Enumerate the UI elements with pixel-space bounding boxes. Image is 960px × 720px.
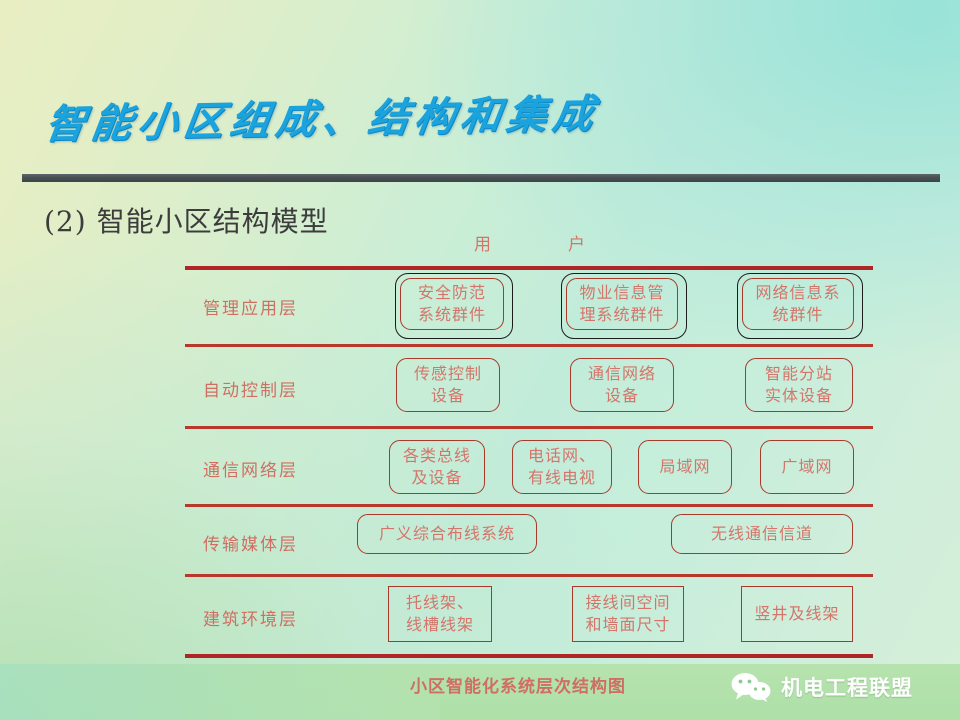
diagram-node[interactable]: 托线架、线槽线架 [388, 586, 492, 642]
page-title: 智能小区组成、结构和集成 [42, 81, 604, 150]
user-label-right: 户 [568, 230, 586, 255]
layer-divider-line [185, 426, 873, 429]
layer-row: 传输媒体层广义综合布线系统无线通信信道 [185, 508, 873, 574]
user-label-left: 用 [474, 230, 492, 255]
diagram-node[interactable]: 网络信息系统群件 [742, 278, 854, 330]
layer-divider-line [185, 654, 873, 658]
diagram-node-line: 统群件 [772, 304, 823, 326]
diagram-node-line: 系统群件 [418, 304, 486, 326]
layer-divider-line [185, 344, 873, 347]
bottom-color-band-left [0, 664, 440, 720]
layer-name-label: 传输媒体层 [203, 530, 298, 555]
diagram-node-line: 电话网、 [528, 445, 596, 467]
diagram-node[interactable]: 安全防范系统群件 [400, 278, 504, 330]
diagram-node-line: 和墙面尺寸 [585, 614, 670, 636]
diagram-node-line: 有线电视 [528, 467, 596, 489]
section-subtitle: (2) 智能小区结构模型 [44, 200, 329, 240]
title-underline-bar [22, 174, 940, 182]
diagram-node[interactable]: 局域网 [638, 440, 732, 494]
watermark: 机电工程联盟 [730, 672, 913, 702]
diagram-node[interactable]: 智能分站实体设备 [745, 358, 853, 412]
diagram-node-line: 网络信息系 [755, 282, 840, 304]
diagram-node-line: 广域网 [781, 456, 832, 478]
layer-divider-line [185, 504, 873, 507]
wechat-icon [730, 672, 772, 702]
layer-row: 通信网络层各类总线及设备电话网、有线电视局域网广域网 [185, 430, 873, 504]
diagram-node-line: 设备 [431, 385, 465, 407]
diagram-node-line: 广义综合布线系统 [379, 523, 515, 545]
diagram-node[interactable]: 无线通信信道 [671, 514, 853, 554]
diagram-node-line: 无线通信信道 [711, 523, 813, 545]
diagram-node-line: 托线架、 [406, 592, 474, 614]
diagram-node[interactable]: 接线间空间和墙面尺寸 [572, 586, 684, 642]
diagram-node[interactable]: 广域网 [760, 440, 854, 494]
diagram-node-line: 及设备 [411, 467, 462, 489]
diagram-node-line: 传感控制 [414, 363, 482, 385]
diagram-node-line: 实体设备 [765, 385, 833, 407]
layer-name-label: 建筑环境层 [203, 605, 298, 630]
layer-row: 建筑环境层托线架、线槽线架接线间空间和墙面尺寸竖井及线架 [185, 578, 873, 654]
layer-name-label: 管理应用层 [203, 294, 298, 319]
diagram-node[interactable]: 通信网络设备 [570, 358, 674, 412]
diagram-node-line: 安全防范 [418, 282, 486, 304]
diagram-node-line: 接线间空间 [585, 592, 670, 614]
layer-row: 自动控制层传感控制设备通信网络设备智能分站实体设备 [185, 348, 873, 426]
layered-architecture-diagram: 管理应用层安全防范系统群件物业信息管理系统群件网络信息系统群件自动控制层传感控制… [185, 266, 873, 658]
layer-divider-line [185, 574, 873, 577]
diagram-node[interactable]: 各类总线及设备 [389, 440, 485, 494]
diagram-node[interactable]: 电话网、有线电视 [512, 440, 612, 494]
diagram-node-line: 线槽线架 [406, 614, 474, 636]
diagram-node-line: 设备 [605, 385, 639, 407]
diagram-node[interactable]: 竖井及线架 [741, 586, 853, 642]
layer-row: 管理应用层安全防范系统群件物业信息管理系统群件网络信息系统群件 [185, 266, 873, 344]
diagram-node-line: 竖井及线架 [754, 603, 839, 625]
diagram-node[interactable]: 广义综合布线系统 [357, 514, 537, 554]
diagram-node-line: 智能分站 [765, 363, 833, 385]
layer-name-label: 通信网络层 [203, 456, 298, 481]
diagram-node[interactable]: 物业信息管理系统群件 [566, 278, 678, 330]
slide-canvas: 智能小区组成、结构和集成 (2) 智能小区结构模型 用 户 管理应用层安全防范系… [0, 0, 960, 720]
diagram-node-line: 理系统群件 [579, 304, 664, 326]
diagram-node-line: 物业信息管 [579, 282, 664, 304]
diagram-node-line: 各类总线 [403, 445, 471, 467]
watermark-text: 机电工程联盟 [781, 672, 913, 702]
diagram-node[interactable]: 传感控制设备 [396, 358, 500, 412]
diagram-node-line: 局域网 [659, 456, 710, 478]
figure-caption: 小区智能化系统层次结构图 [410, 672, 626, 697]
diagram-node-line: 通信网络 [588, 363, 656, 385]
layer-name-label: 自动控制层 [203, 376, 298, 401]
